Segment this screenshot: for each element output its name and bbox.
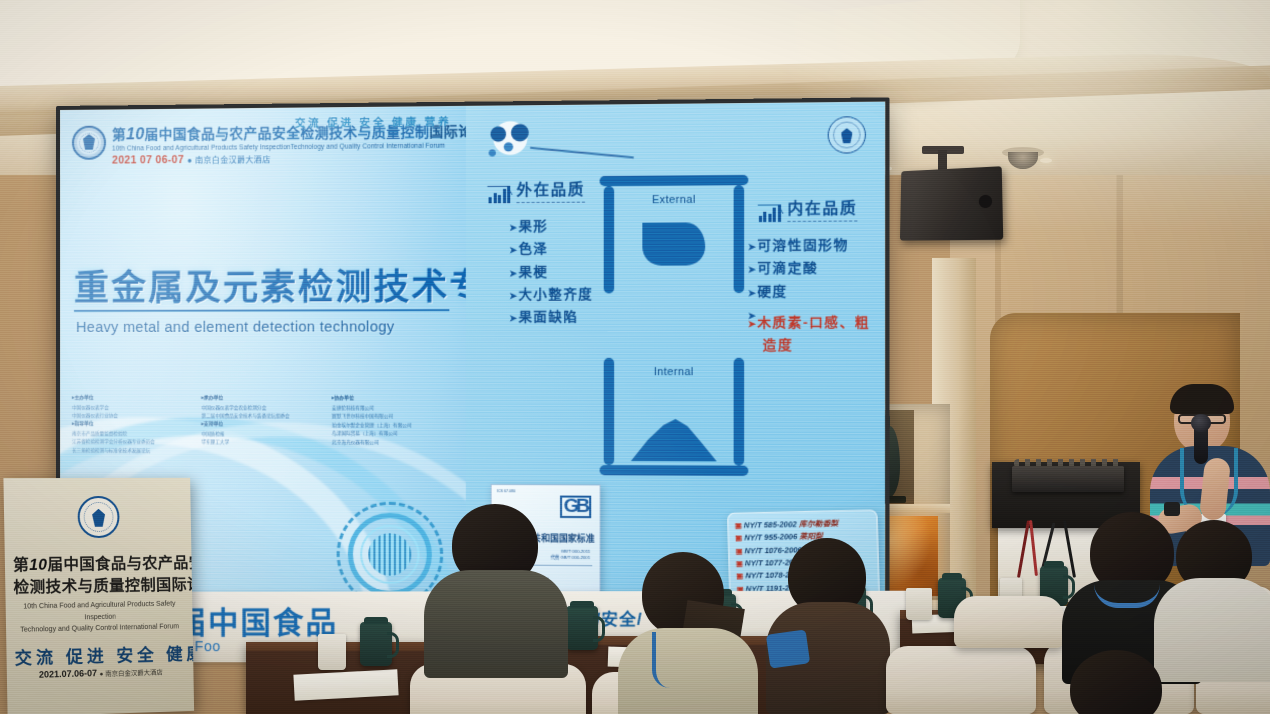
bullet-item: 可滴定酸 [748,257,870,280]
bullet-item-highlight: 木质素-口感、粗 [748,311,870,334]
audience-member [1040,650,1190,714]
organizer-head: 主办单位 [72,395,191,404]
frame-label-internal: Internal [654,366,694,378]
organizer-head: 承办单位 [201,395,321,404]
frame-bar-bottom [600,465,749,476]
frame-legs: Internal [600,358,749,466]
gb-mark: GB [560,496,592,519]
organizer-item: 中国仪器仪表学会 [72,404,191,413]
organizer-item: 赛默飞世尔科技中国有限公司 [332,413,454,422]
thermos-flask [566,606,598,650]
ceiling-downlight [1040,158,1052,163]
forum-slogan: 交流 促进 安全 健康 营养 [295,114,452,131]
standee-english: 10th China Food and Agricultural Product… [16,599,183,637]
bullet-item: 色泽 [509,238,593,261]
section-internal-quality: 内在品质 [759,197,858,222]
bullet-item: 大小整齐度 [509,283,593,306]
organizer-item: 中国仪器仪表行业协会 [72,412,191,421]
organizer-head: 协办单位 [332,395,454,404]
handout-paper [293,669,398,700]
bullet-item-highlight-cont: 造度 [748,334,870,357]
organizer-column-3: 协办单位 安捷伦科技有限公司 赛默飞世尔科技中国有限公司 珀金埃尔默企业管理（上… [332,395,454,456]
association-seal-logo [828,116,866,153]
microphone-head [1191,414,1211,432]
tea-cup [318,634,346,670]
organizer-item: 中国仪器仪表学会农业检测分会 [201,404,321,413]
ink-splat-decor [480,111,540,171]
conference-room-photo: 第10届中国食品与农产品安全检测技术与质量控制国际论坛 10th China F… [0,0,1270,714]
forum-date: 2021 07 06-07 ● 南京白金汉爵大酒店 [112,151,466,166]
presenter-hair [1170,384,1234,414]
bar-chart-icon [489,185,512,203]
standee-line-2: 检测技术与质量控制国际论坛 [13,573,184,598]
slide-title-cn: 重金属及元素检测技术专题 [74,258,447,311]
audience-member [430,504,560,684]
event-standee-sign: 第10届中国食品与农产品安全 检测技术与质量控制国际论坛 10th China … [3,478,194,714]
thermos-flask [360,622,392,666]
standee-slogan: 交流 促进 安全 健康 营养 [14,640,185,669]
smartphone[interactable] [766,629,810,668]
internal-quality-bullets: 可溶性固形物 可滴定酸 硬度 木质素-口感、粗 造度 [748,234,870,358]
bullet-item: 果梗 [509,261,593,284]
organizer-column-1: 主办单位 中国仪器仪表学会 中国仪器仪表行业协会 指导单位 南京市产品质量监督检… [72,395,191,456]
audience-chair [886,646,1036,714]
slide-title-en: Heavy metal and element detection techno… [76,319,395,336]
audience-member [770,538,886,714]
organizer-item: 南京市产品质量监督检验院 [72,430,191,439]
tea-cup [906,588,932,620]
audience-member [628,552,756,714]
leaf-shape-icon [642,222,705,265]
organizer-item: 珀金埃尔默企业管理（上海）有限公司 [332,421,454,430]
frame-legs: External [600,185,749,293]
lanyard [652,632,698,688]
frame-label-external: External [652,194,696,207]
external-quality-bullets: 果形 色泽 果梗 大小整齐度 果面缺陷 [509,215,593,329]
standee-line-1: 第10届中国食品与农产品安全 [13,551,184,575]
organizer-head: 指导单位 [72,421,191,430]
organizer-item: 华东理工大学 [201,439,321,448]
section-title: 外在品质 [516,178,585,203]
section-external-quality: 外在品质 [489,178,585,203]
organizer-item: 岛津国际贸易（上海）有限公司 [332,430,454,439]
organizer-item: 中国质检报 [201,430,321,439]
organizer-item: 江苏省检验检测学会分析仪器专业委员会 [72,438,191,447]
bar-chart-icon [759,203,782,222]
external-frame-graphic: External [600,175,749,294]
organizer-item: 北京海光仪器有限公司 [332,439,454,448]
organizer-item: 第二届中国食品安全技术与装备论坛组委会 [201,413,321,422]
audio-mixer-console[interactable] [1012,466,1124,492]
title-divider [74,309,449,312]
organizer-head: 支持单位 [201,421,321,430]
bullet-item: 可溶性固形物 [748,234,870,258]
bullet-item: 果形 [509,215,593,238]
section-title: 内在品质 [787,197,857,222]
gb-corner-note: ICS 67.080 [497,489,516,493]
bullet-item: 果面缺陷 [509,306,593,329]
ceiling-speaker [900,166,1003,240]
audience-chair [954,596,1064,648]
association-seal-logo [72,126,106,160]
bullet-item: 硬度 [748,280,870,303]
organizer-item: 安捷伦科技有限公司 [332,404,454,413]
audience-head [1070,650,1162,714]
organizer-lists: 主办单位 中国仪器仪表学会 中国仪器仪表行业协会 指导单位 南京市产品质量监督检… [72,395,453,457]
mound-shape-icon [631,416,717,461]
audience-torso [424,570,568,678]
internal-frame-graphic: Internal [600,358,749,476]
organizer-column-2: 承办单位 中国仪器仪表学会农业检测分会 第二届中国食品安全技术与装备论坛组委会 … [201,395,321,456]
organizer-item: 长三角检验检测与标准化技术发展论坛 [72,447,191,456]
decor-line [530,147,634,158]
association-seal-logo [77,496,119,538]
